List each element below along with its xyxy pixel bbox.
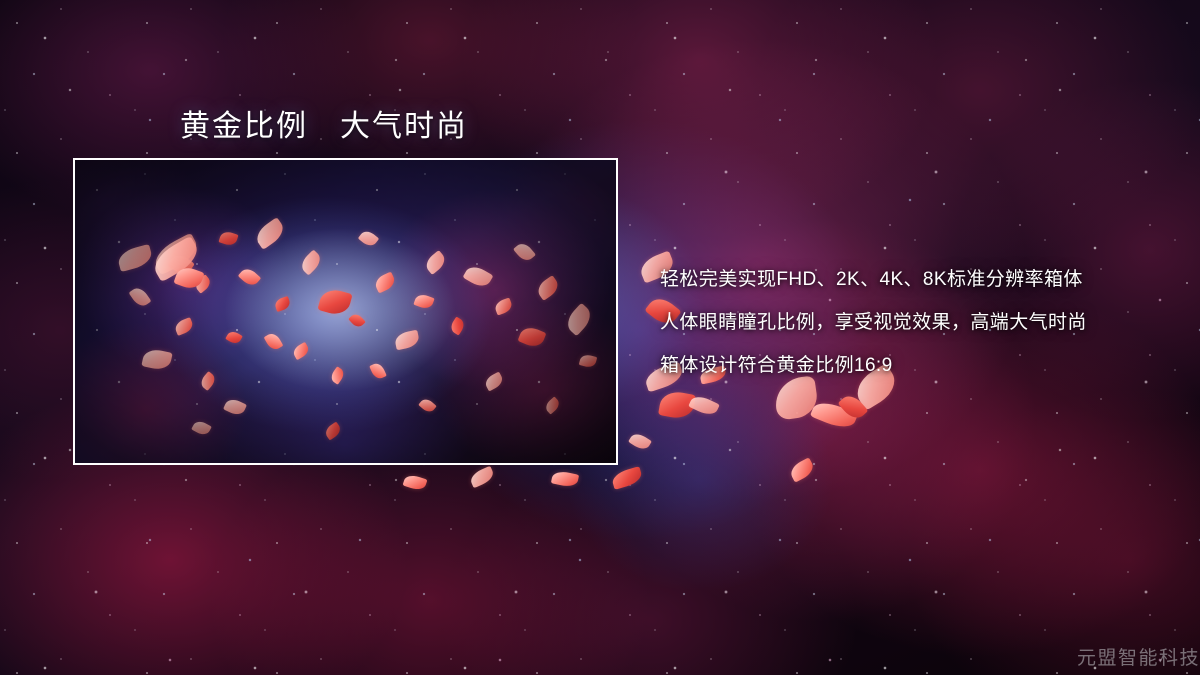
body-line-1: 轻松完美实现FHD、2K、4K、8K标准分辨率箱体 <box>660 258 1160 301</box>
body-line-2: 人体眼睛瞳孔比例，享受视觉效果，高端大气时尚 <box>660 301 1160 344</box>
watermark: 元盟智能科技 <box>1077 643 1200 670</box>
body-copy: 轻松完美实现FHD、2K、4K、8K标准分辨率箱体 人体眼睛瞳孔比例，享受视觉效… <box>660 258 1160 387</box>
body-line-3: 箱体设计符合黄金比例16:9 <box>660 344 1160 387</box>
page-title: 黄金比例 大气时尚 <box>180 101 468 145</box>
frame-vignette <box>75 160 616 463</box>
slide-canvas: 黄金比例 大气时尚 <box>0 0 1200 675</box>
nebula-photo-frame <box>73 158 618 465</box>
